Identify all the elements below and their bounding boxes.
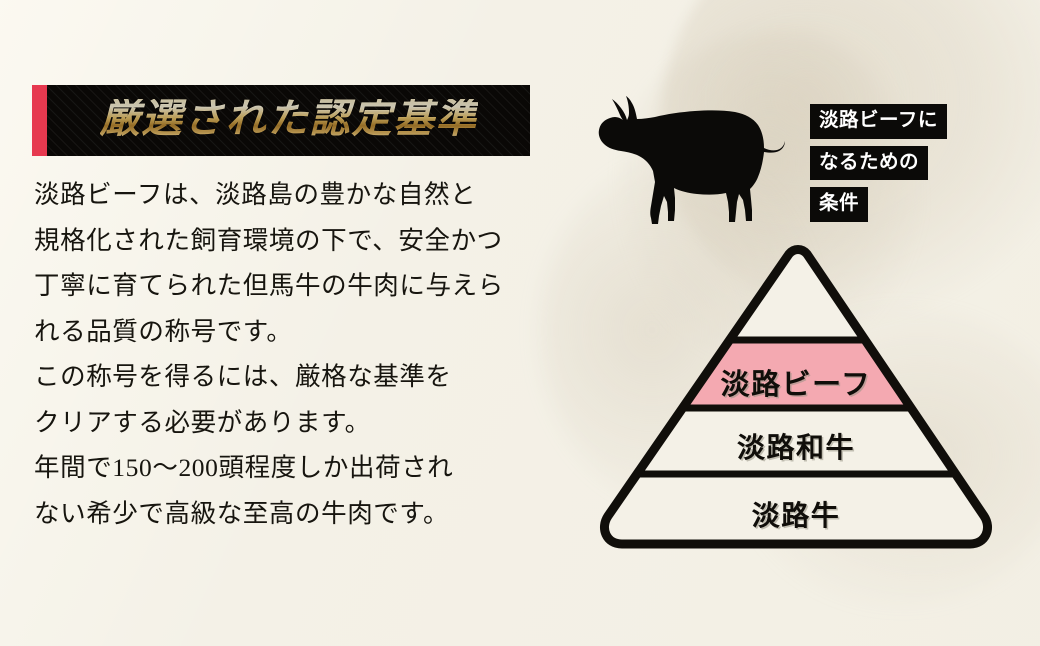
copy-line: 丁寧に育てられた但馬牛の牛肉に与えら [34, 263, 554, 309]
grade-pyramid-diagram: 淡路ビーフ 淡路和牛 淡路牛 [592, 244, 1000, 556]
description-paragraph: 淡路ビーフは、淡路島の豊かな自然と 規格化された飼育環境の下で、安全かつ 丁寧に… [34, 172, 554, 536]
copy-line: 年間で150〜200頭程度しか出荷され [34, 445, 554, 491]
pyramid-tier-highlight [592, 340, 1000, 408]
copy-line: れる品質の称号です。 [34, 309, 554, 355]
callout-label: 淡路ビーフに [810, 104, 947, 139]
cow-silhouette-icon [595, 90, 800, 230]
copy-line: 淡路ビーフは、淡路島の豊かな自然と [34, 172, 554, 218]
page-title: 厳選された認定基準 [100, 99, 478, 142]
copy-line: クリアする必要があります。 [34, 400, 554, 446]
callout-label: 条件 [810, 187, 868, 222]
callout-label-group: 淡路ビーフに なるための 条件 [810, 104, 947, 222]
section-header-banner: 厳選された認定基準 [32, 85, 530, 156]
promotional-panel: 厳選された認定基準 淡路ビーフは、淡路島の豊かな自然と 規格化された飼育環境の下… [0, 0, 1040, 646]
copy-line: この称号を得るには、厳格な基準を [34, 354, 554, 400]
header-accent-bar [32, 85, 47, 156]
header-banner-body: 厳選された認定基準 [47, 85, 530, 156]
callout-label: なるための [810, 146, 928, 181]
copy-line: ない希少で高級な至高の牛肉です。 [34, 491, 554, 537]
copy-line: 規格化された飼育環境の下で、安全かつ [34, 218, 554, 264]
